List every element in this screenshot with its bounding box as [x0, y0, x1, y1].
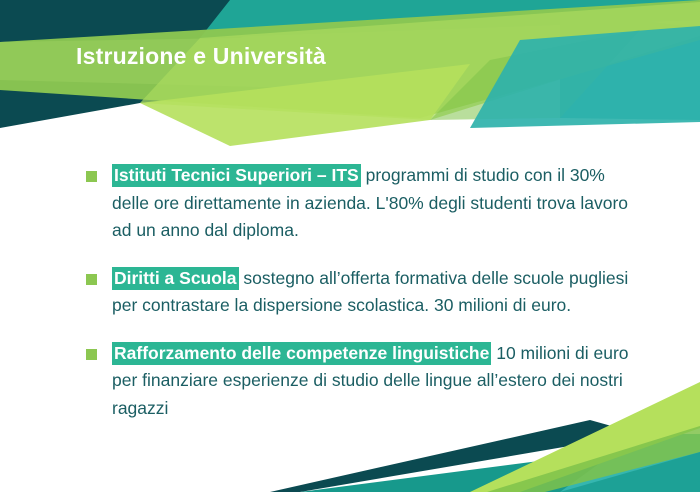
header-shape-teal-right-overlay [470, 26, 700, 128]
header-shape-dark-teal-lower-left [0, 80, 300, 128]
slide: Istruzione e Università Istituti Tecnici… [0, 0, 700, 492]
page-title: Istruzione e Università [76, 43, 326, 70]
header-shape-teal-top [200, 0, 700, 38]
footer-shape-dark-teal [270, 420, 640, 492]
header-shape-dark-teal-left [0, 0, 330, 42]
bullet-square-icon [86, 171, 97, 182]
list-item-highlight: Rafforzamento delle competenze linguisti… [112, 342, 491, 365]
header-shape-teal-right [560, 10, 700, 120]
footer-shape-green-accent [487, 426, 700, 492]
list-item: Istituti Tecnici Superiori – ITS program… [84, 162, 644, 245]
footer-shape-teal-light-right [560, 434, 700, 492]
header-shape-green-light-lower [140, 64, 470, 146]
bullet-square-icon [86, 274, 97, 285]
list-item-highlight: Diritti a Scuola [112, 267, 239, 290]
header-shapes-svg [0, 0, 700, 150]
bullet-list: Istituti Tecnici Superiori – ITS program… [84, 162, 644, 422]
list-item-text: Istituti Tecnici Superiori – ITS program… [112, 162, 644, 245]
footer-shape-teal-dark-overlay [560, 452, 700, 492]
list-item: Rafforzamento delle competenze linguisti… [84, 340, 644, 423]
header-decoration [0, 0, 700, 150]
list-item-text: Diritti a Scuola sostegno all’offerta fo… [112, 265, 644, 320]
list-item: Diritti a Scuola sostegno all’offerta fo… [84, 265, 644, 320]
bullet-square-icon [86, 349, 97, 360]
footer-shape-teal [300, 440, 700, 492]
header-shape-green-accent-right [430, 30, 640, 120]
list-item-highlight: Istituti Tecnici Superiori – ITS [112, 164, 361, 187]
list-item-text: Rafforzamento delle competenze linguisti… [112, 340, 644, 423]
